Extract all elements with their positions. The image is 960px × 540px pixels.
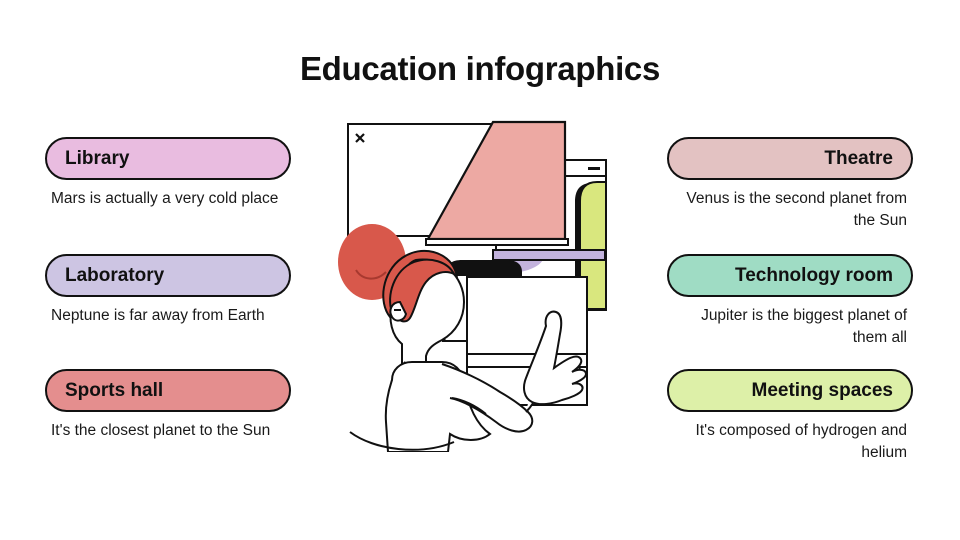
illustration-person-pointing-at-browser-windows (330, 112, 630, 452)
pill-label-sports-hall: Sports hall (65, 381, 163, 400)
pill-label-laboratory: Laboratory (65, 266, 164, 285)
list-item-laboratory[interactable]: Laboratory Neptune is far away from Eart… (45, 254, 291, 327)
description-theatre: Venus is the second planet from the Sun (667, 188, 913, 233)
page-title: Education infographics (0, 50, 960, 88)
description-sports-hall: It's the closest planet to the Sun (45, 420, 291, 442)
pill-theatre[interactable]: Theatre (667, 137, 913, 180)
list-item-sports-hall[interactable]: Sports hall It's the closest planet to t… (45, 369, 291, 442)
pill-meeting-spaces[interactable]: Meeting spaces (667, 369, 913, 412)
description-technology-room: Jupiter is the biggest planet of them al… (667, 305, 913, 350)
description-meeting-spaces: It's composed of hydrogen and helium (667, 420, 913, 465)
pill-label-library: Library (65, 149, 129, 168)
pill-sports-hall[interactable]: Sports hall (45, 369, 291, 412)
list-item-theatre[interactable]: Theatre Venus is the second planet from … (667, 137, 913, 233)
pill-label-meeting-spaces: Meeting spaces (752, 381, 894, 400)
list-item-library[interactable]: Library Mars is actually a very cold pla… (45, 137, 291, 210)
minimize-icon (588, 167, 600, 170)
description-library: Mars is actually a very cold place (45, 188, 291, 210)
list-item-technology-room[interactable]: Technology room Jupiter is the biggest p… (667, 254, 913, 350)
pill-library[interactable]: Library (45, 137, 291, 180)
pill-label-theatre: Theatre (824, 149, 893, 168)
pill-laboratory[interactable]: Laboratory (45, 254, 291, 297)
description-laboratory: Neptune is far away from Earth (45, 305, 291, 327)
pill-technology-room[interactable]: Technology room (667, 254, 913, 297)
list-item-meeting-spaces[interactable]: Meeting spaces It's composed of hydrogen… (667, 369, 913, 465)
pill-label-technology-room: Technology room (735, 266, 893, 285)
slide-canvas: Education infographics Library Mars is a… (0, 0, 960, 540)
